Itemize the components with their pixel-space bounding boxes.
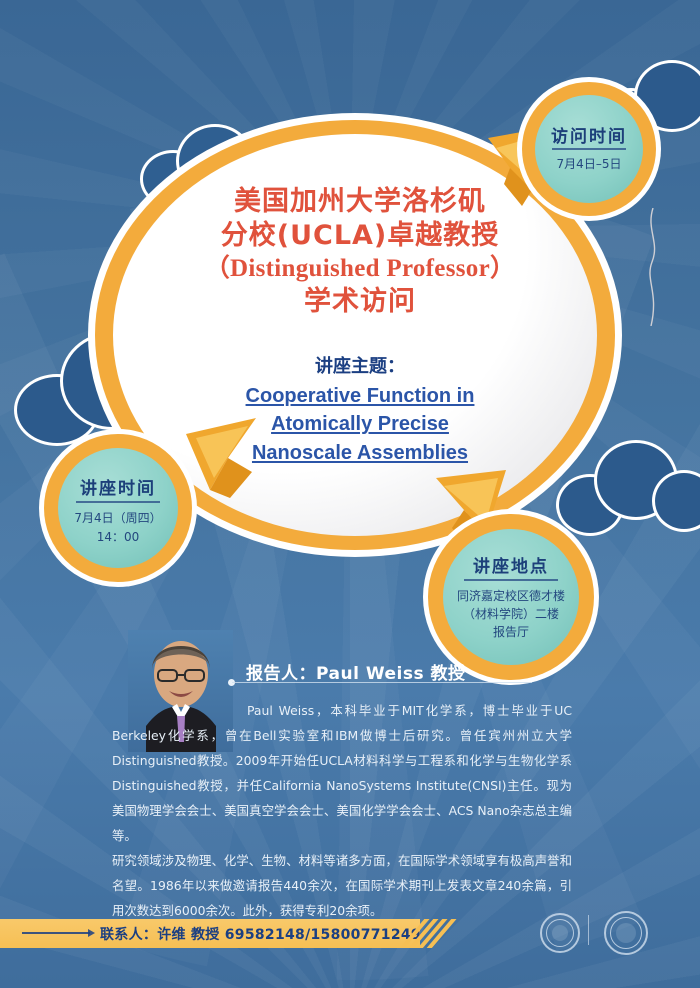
seal-right-core bbox=[616, 923, 636, 943]
badge-venue-heading: 讲座地点 bbox=[428, 552, 594, 577]
contact-text: 联系人：许维 教授 69582148/15800771249 bbox=[100, 924, 421, 944]
topic-title: Cooperative Function in Atomically Preci… bbox=[150, 382, 570, 467]
contact-bar-stripes bbox=[398, 919, 458, 948]
page-title: 美国加州大学洛杉矶 分校(UCLA)卓越教授 （Distinguished Pr… bbox=[150, 185, 570, 319]
badge-venue-rule bbox=[464, 579, 558, 581]
topic-line-3: Nanoscale Assemblies bbox=[150, 439, 570, 467]
badge-venue-line-3: 报告厅 bbox=[428, 624, 594, 641]
title-line-2: 分校(UCLA)卓越教授 bbox=[150, 219, 570, 253]
badge-visit-time: 访问时间 7月4日–5日 bbox=[522, 82, 656, 216]
speaker-bio: Paul Weiss，本科毕业于MIT化学系，博士毕业于UC Berkeley化… bbox=[112, 698, 572, 923]
badge-venue-line-1: 同济嘉定校区德才楼 bbox=[428, 588, 594, 605]
topic-line-1: Cooperative Function in bbox=[150, 382, 570, 410]
speaker-bio-paragraph-1: Paul Weiss，本科毕业于MIT化学系，博士毕业于UC Berkeley化… bbox=[112, 698, 572, 848]
topic-label: 讲座主题： bbox=[150, 352, 570, 378]
badge-lecture-time: 讲座时间 7月4日（周四） 14：00 bbox=[44, 434, 192, 582]
speaker-name: 报告人：Paul Weiss 教授 bbox=[246, 659, 465, 684]
badge-lecture-time-clock: 14：00 bbox=[44, 529, 192, 546]
badge-venue-line-2: （材料学院）二楼 bbox=[428, 606, 594, 623]
topic-line-2: Atomically Precise bbox=[150, 410, 570, 438]
university-seal-right bbox=[604, 911, 648, 955]
title-line-1: 美国加州大学洛杉矶 bbox=[150, 185, 570, 219]
badge-visit-heading: 访问时间 bbox=[522, 122, 656, 147]
badge-lecture-time-heading: 讲座时间 bbox=[44, 474, 192, 499]
poster-root: 美国加州大学洛杉矶 分校(UCLA)卓越教授 （Distinguished Pr… bbox=[0, 0, 700, 988]
badge-lecture-time-rule bbox=[76, 501, 160, 503]
oval-crease-decoration bbox=[642, 208, 664, 326]
title-line-4: 学术访问 bbox=[150, 285, 570, 319]
badge-visit-rule bbox=[552, 148, 626, 150]
badge-lecture-time-inner bbox=[58, 448, 178, 568]
speaker-bio-paragraph-2: 研究领域涉及物理、化学、生物、材料等诸多方面，在国际学术领域享有极高声誉和名望。… bbox=[112, 848, 572, 923]
badge-visit-date: 7月4日–5日 bbox=[522, 156, 656, 173]
university-seal-left bbox=[540, 913, 580, 953]
contact-arrow-line bbox=[22, 932, 90, 934]
title-line-3: （Distinguished Professor） bbox=[150, 253, 570, 285]
arrow-right-icon bbox=[88, 929, 95, 937]
seal-left-core bbox=[552, 925, 568, 941]
seal-divider bbox=[588, 915, 589, 945]
badge-lecture-time-date: 7月4日（周四） bbox=[44, 510, 192, 527]
badge-venue: 讲座地点 同济嘉定校区德才楼 （材料学院）二楼 报告厅 bbox=[428, 514, 594, 680]
